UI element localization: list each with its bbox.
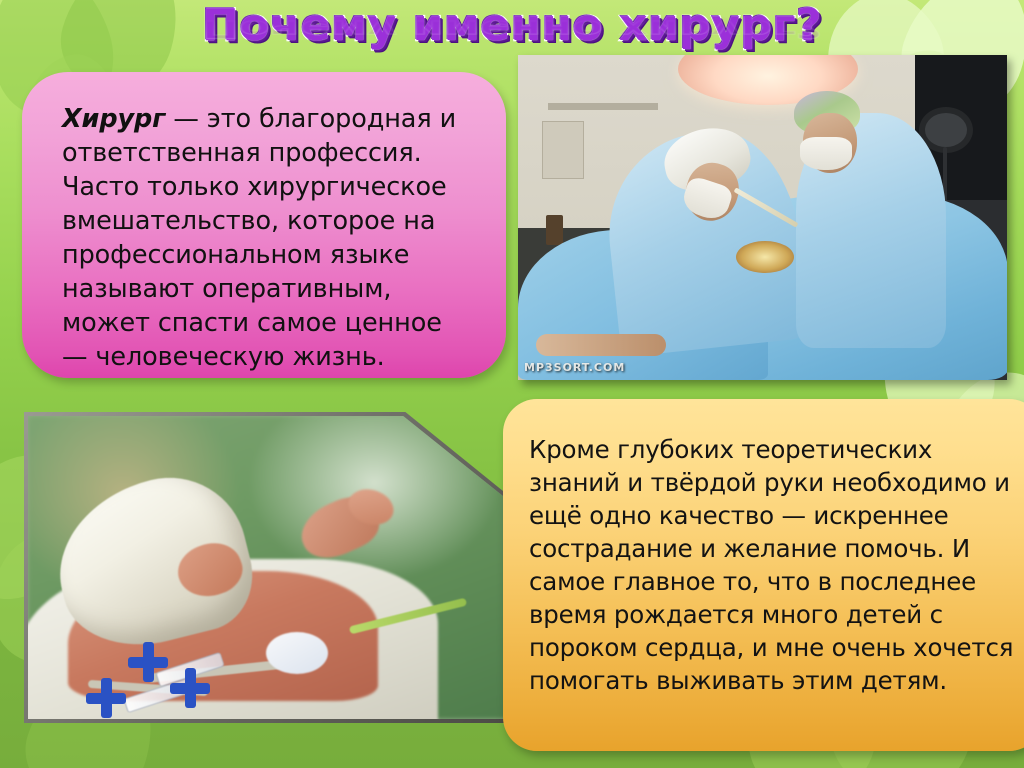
pink-card-body-text: — это благородная и ответственная профес… bbox=[62, 104, 456, 372]
surgery-photo-watermark: MP3SORT.COM bbox=[524, 361, 625, 374]
wall-dispenser bbox=[542, 121, 584, 179]
surgery-photo-scene bbox=[518, 55, 1007, 380]
orange-text-card: Кроме глубоких теоретических знаний и тв… bbox=[503, 399, 1024, 751]
medical-bottle bbox=[546, 215, 563, 245]
surgical-mask-right bbox=[800, 137, 852, 170]
slide-title-reflection: Почему именно хирург? bbox=[0, 16, 1024, 42]
patient-limb bbox=[536, 334, 666, 356]
pink-card-lead-word: Хирург bbox=[62, 104, 165, 134]
medical-tape-patch bbox=[266, 632, 328, 674]
presentation-slide: Почему именно хирург? Почему именно хиру… bbox=[0, 0, 1024, 768]
pink-card-paragraph: Хирург — это благородная и ответственная… bbox=[62, 102, 472, 374]
orange-card-paragraph: Кроме глубоких теоретических знаний и тв… bbox=[529, 433, 1021, 697]
iv-clamp-icon bbox=[128, 642, 168, 682]
newborn-photo-scene bbox=[28, 416, 509, 719]
wall-shelf bbox=[548, 103, 658, 110]
iv-clamp-icon bbox=[86, 678, 126, 718]
iv-clamp-icon bbox=[170, 668, 210, 708]
newborn-photo bbox=[24, 412, 513, 723]
operation-site bbox=[736, 241, 794, 273]
pink-text-card: Хирург — это благородная и ответственная… bbox=[22, 72, 506, 378]
surgery-photo: MP3SORT.COM bbox=[518, 55, 1007, 380]
slide-title-block: Почему именно хирург? Почему именно хиру… bbox=[0, 2, 1024, 90]
